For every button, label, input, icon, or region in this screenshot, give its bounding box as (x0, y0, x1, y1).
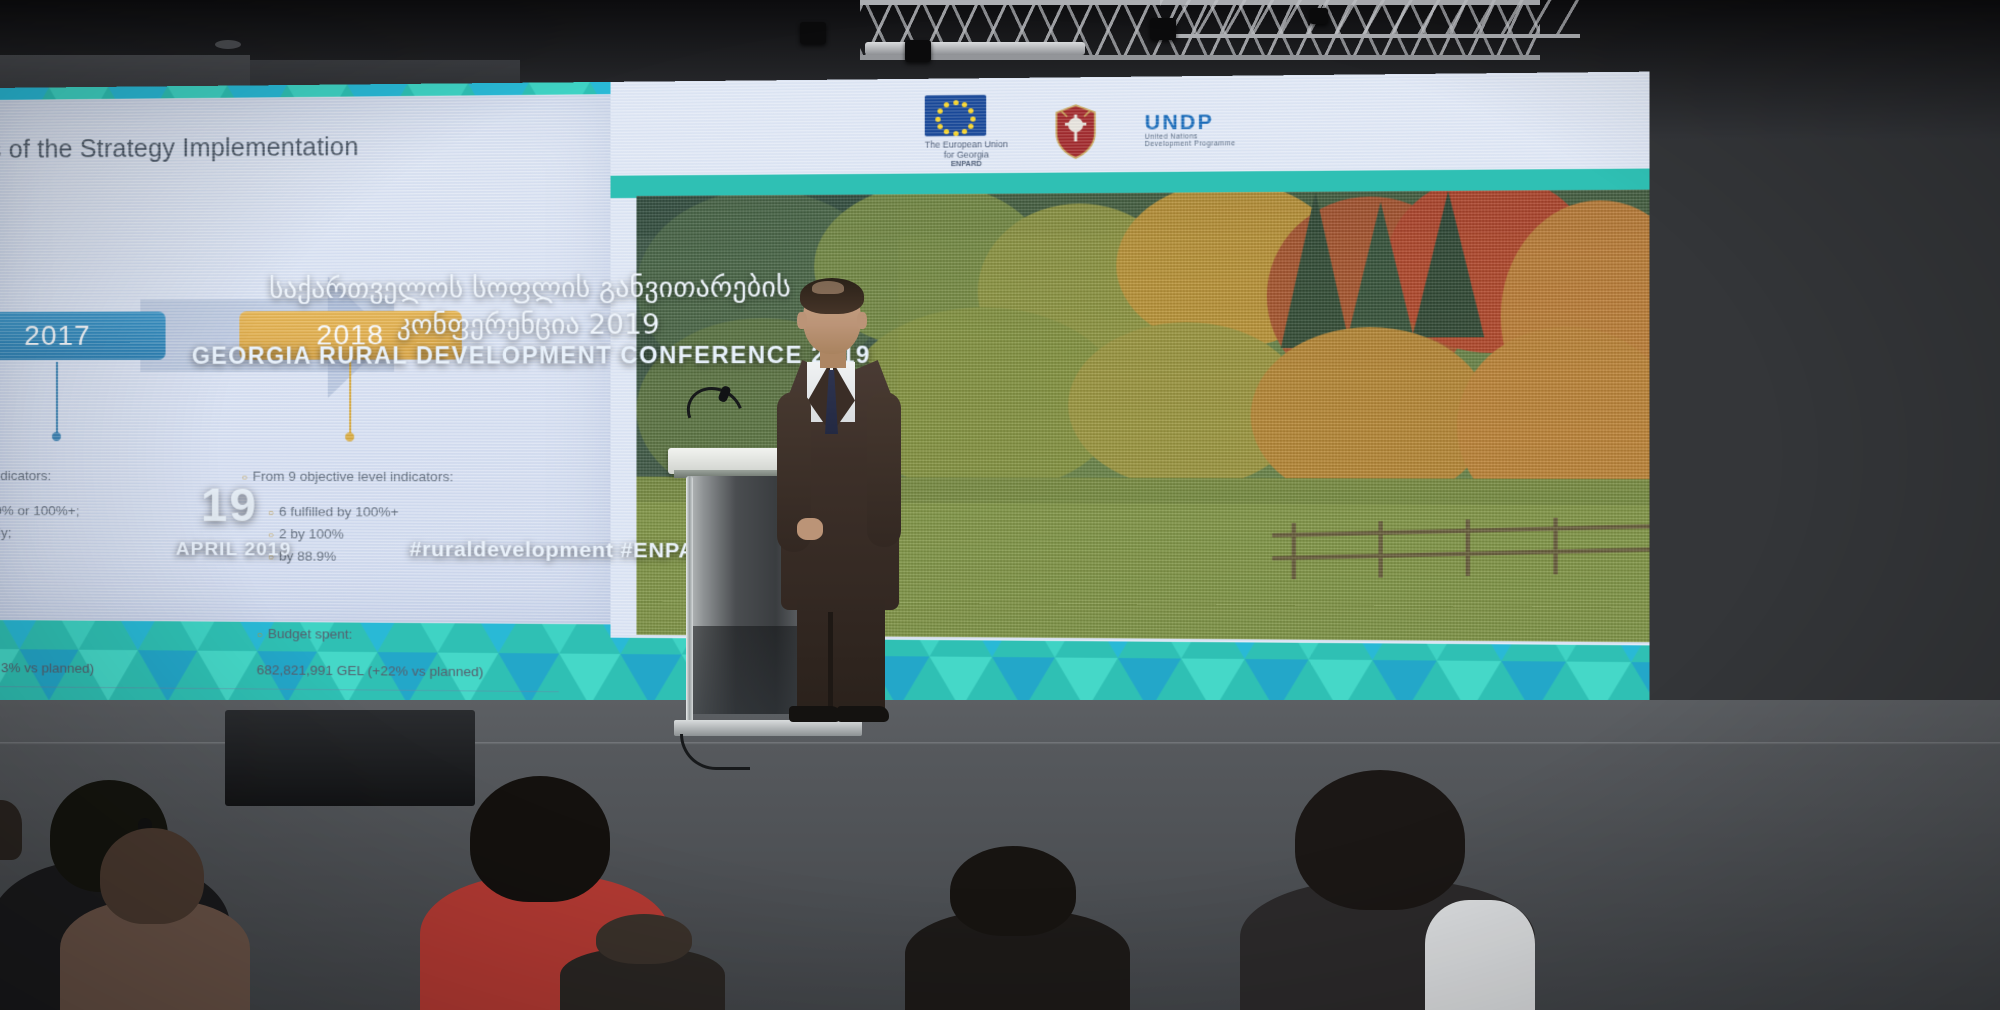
bullet-icon: ○ (257, 630, 263, 641)
speaker-shoe-right (837, 706, 889, 722)
speaker-person (775, 282, 905, 722)
audience-member (560, 930, 730, 1010)
timeline-stem-right (349, 362, 351, 435)
slide-title: ults of the Strategy Implementation (0, 133, 386, 166)
audience-member (60, 860, 260, 1010)
eu-flag-logo (925, 94, 986, 136)
audience-collar (1425, 900, 1535, 1010)
right-column-header: ○From 9 objective level indicators: (241, 467, 579, 489)
big-year-graphic: 19 (201, 477, 258, 533)
spotlight-icon (1310, 8, 1328, 24)
podium-rail-left (686, 476, 693, 726)
speaker-legs (797, 600, 885, 720)
timeline-stem-left (56, 362, 58, 434)
georgia-coat-of-arms-logo (1051, 102, 1102, 160)
speaker-leg-separation (828, 612, 833, 720)
conference-date: APRIL 2019 (176, 539, 292, 562)
budget-value-right: 682,821,991 GEL (+22% vs planned) (257, 662, 484, 679)
speaker-shoe-left (789, 706, 841, 722)
timeline-dot-left (52, 432, 61, 441)
eu-logo-block: The European Union for Georgia ENPARD (925, 94, 1008, 170)
bar-light-fixture (865, 42, 1085, 55)
budget-value-left: EL (+38.3% vs planned) (0, 660, 94, 676)
left-column-header: r level indicators: (0, 466, 221, 488)
speaker-ear-right (857, 312, 867, 329)
spotlight-icon (1150, 18, 1176, 40)
undp-logo-block: UNDP United Nations Development Programm… (1145, 112, 1236, 149)
screenshot-root: ults of the Strategy Implementation 2017… (0, 0, 2000, 1010)
timeline-dot-right (345, 432, 354, 441)
left-column-item: d by 100% or 100%+; (0, 501, 221, 523)
spotlight-icon (800, 22, 826, 44)
audience-member (905, 860, 1135, 1010)
audience-head (470, 776, 610, 902)
speaker-arm-right (867, 392, 901, 547)
budget-spent-label: ○Budget spent: (257, 626, 353, 642)
speaker-hand (797, 518, 823, 540)
lighting-truss-secondary (1160, 0, 1580, 38)
right-column-item: ○6 fulfilled by 100%+ (268, 502, 580, 524)
audience-head (1295, 770, 1465, 910)
speaker-ear-left (797, 312, 807, 329)
smoke-detector-icon (215, 40, 241, 49)
eu-logo-caption: The European Union for Georgia ENPARD (925, 138, 1008, 170)
audience-head (950, 846, 1076, 936)
bullet-icon: ○ (268, 508, 274, 519)
undp-logo: UNDP United Nations Development Programm… (1145, 112, 1236, 149)
audience-member (1240, 780, 1540, 1010)
speaker-hair (800, 278, 864, 314)
audience-raised-hand (0, 800, 22, 860)
audience-head (596, 914, 692, 964)
logo-row: The European Union for Georgia ENPARD (925, 88, 1267, 174)
audience-head (100, 828, 204, 924)
spotlight-icon (905, 40, 931, 62)
